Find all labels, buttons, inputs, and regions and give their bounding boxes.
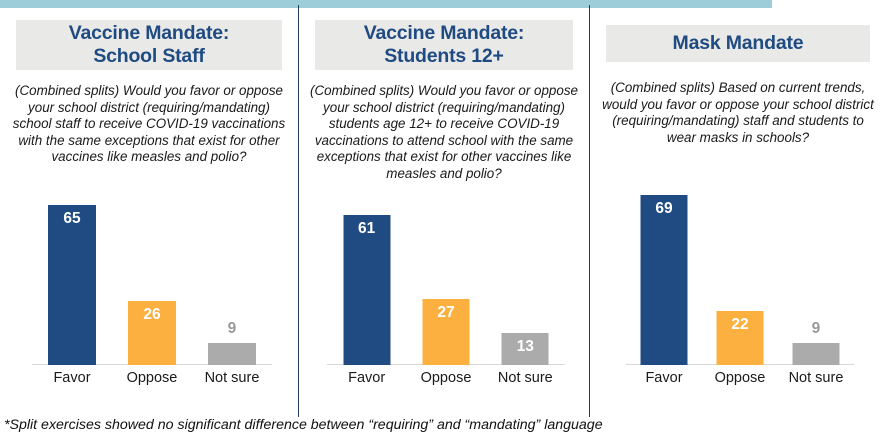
category-label-oppose: Oppose [112,369,192,387]
bar-value-favor: 61 [343,220,390,238]
bar-value-favor: 65 [48,210,96,228]
top-accent-bar [0,0,772,8]
bar-chart: 69 22 9 Favor Oppose Not sure [590,178,886,412]
panel-question-text: (Combined splits) Would you favor or opp… [10,83,288,166]
panel-divider-1 [298,5,299,417]
bar-not-sure[interactable]: 9 [792,343,839,365]
category-label-oppose: Oppose [406,369,485,387]
panel-title-box: Mask Mandate [606,25,870,62]
bar-not-sure[interactable]: 9 [208,343,256,365]
bar-value-not-sure: 13 [502,338,549,356]
panel-vaccine-mandate-students-12plus: Vaccine Mandate: Students 12+ (Combined … [299,8,589,412]
bar-favor[interactable]: 69 [640,195,687,365]
bar-value-not-sure: 9 [208,320,256,338]
bar-column-favor: 65 [32,178,112,365]
plot-area: 65 26 9 Favor Oppose Not sure [32,178,272,387]
bar-favor[interactable]: 61 [343,215,390,365]
bar-value-oppose: 22 [716,316,763,334]
bar-column-not-sure: 9 [192,178,272,365]
bar-not-sure[interactable]: 13 [502,333,549,365]
bar-chart: 65 26 9 Favor Oppose Not sure [0,178,298,412]
panel-title: Mask Mandate [673,32,804,55]
category-label-not-sure: Not sure [192,369,272,387]
panel-divider-2 [589,5,590,417]
category-label-not-sure: Not sure [486,369,565,387]
bar-value-oppose: 27 [422,304,469,322]
bar-value-favor: 69 [640,200,687,218]
bar-column-not-sure: 13 [486,178,565,365]
bar-column-oppose: 22 [702,178,778,365]
bar-column-oppose: 27 [406,178,485,365]
category-label-oppose: Oppose [702,369,778,387]
bar-value-oppose: 26 [128,306,176,324]
bar-favor[interactable]: 65 [48,205,96,365]
bar-column-favor: 61 [327,178,406,365]
panel-title-box: Vaccine Mandate: School Staff [16,20,282,70]
footnote-text: *Split exercises showed no significant d… [4,417,603,433]
category-label-favor: Favor [327,369,406,387]
panel-title: Vaccine Mandate: School Staff [69,22,229,68]
panel-title-box: Vaccine Mandate: Students 12+ [315,20,573,70]
category-label-favor: Favor [32,369,112,387]
plot-area: 69 22 9 Favor Oppose Not sure [626,178,854,387]
bar-column-favor: 69 [626,178,702,365]
panel-vaccine-mandate-school-staff: Vaccine Mandate: School Staff (Combined … [0,8,298,412]
plot-area: 61 27 13 Favor Oppose Not sure [327,178,565,387]
bar-oppose[interactable]: 22 [716,311,763,365]
category-label-not-sure: Not sure [778,369,854,387]
bar-oppose[interactable]: 26 [128,301,176,365]
bar-value-not-sure: 9 [792,320,839,338]
panel-question-text: (Combined splits) Would you favor or opp… [309,83,579,183]
panel-mask-mandate: Mask Mandate (Combined splits) Based on … [590,8,886,412]
category-label-favor: Favor [626,369,702,387]
panels-container: Vaccine Mandate: School Staff (Combined … [0,8,886,412]
bar-oppose[interactable]: 27 [422,299,469,365]
panel-question-text: (Combined splits) Based on current trend… [600,80,876,146]
bar-column-oppose: 26 [112,178,192,365]
bar-chart: 61 27 13 Favor Oppose Not sure [299,178,589,412]
bar-column-not-sure: 9 [778,178,854,365]
panel-title: Vaccine Mandate: Students 12+ [364,22,524,68]
